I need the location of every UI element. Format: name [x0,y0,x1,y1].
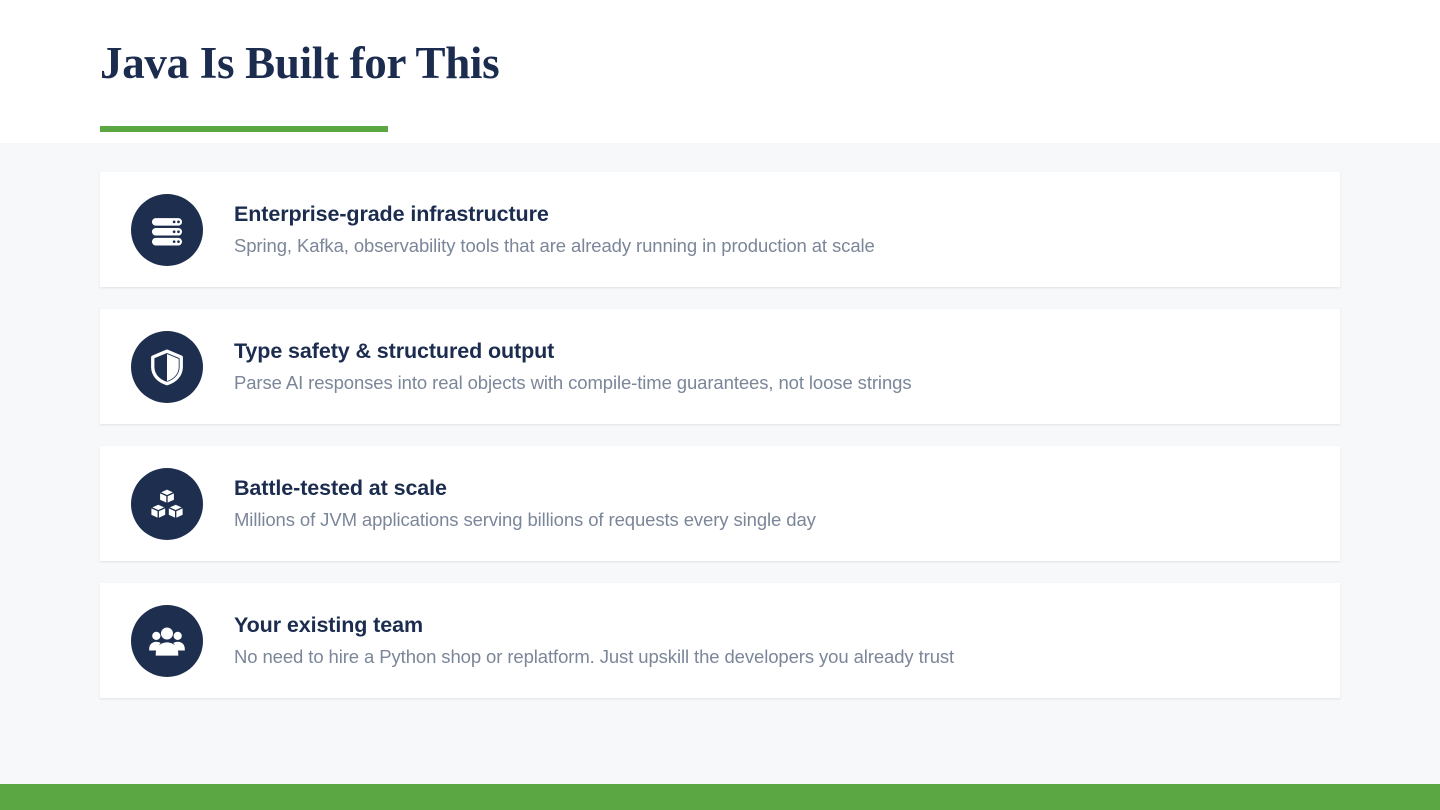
card-heading: Enterprise-grade infrastructure [234,202,1310,227]
card-description: Millions of JVM applications serving bil… [234,509,1310,531]
users-group-icon [131,605,203,677]
card-heading: Your existing team [234,613,1310,638]
card-text: Battle-tested at scale Millions of JVM a… [234,476,1340,532]
title-accent-rule [100,126,388,132]
feature-card[interactable]: Your existing team No need to hire a Pyt… [100,583,1340,698]
card-description: Parse AI responses into real objects wit… [234,372,1310,394]
slide-header: Java Is Built for This [0,0,1440,143]
card-description: Spring, Kafka, observability tools that … [234,235,1310,257]
card-heading: Battle-tested at scale [234,476,1310,501]
boxes-icon [131,468,203,540]
feature-card-list: Enterprise-grade infrastructure Spring, … [100,172,1340,720]
card-heading: Type safety & structured output [234,339,1310,364]
footer-accent-bar [0,784,1440,810]
card-description: No need to hire a Python shop or replatf… [234,646,1310,668]
card-text: Enterprise-grade infrastructure Spring, … [234,202,1340,258]
feature-card[interactable]: Battle-tested at scale Millions of JVM a… [100,446,1340,561]
feature-card[interactable]: Enterprise-grade infrastructure Spring, … [100,172,1340,287]
server-rack-icon [131,194,203,266]
feature-card[interactable]: Type safety & structured output Parse AI… [100,309,1340,424]
page-title: Java Is Built for This [100,41,499,86]
shield-icon [131,331,203,403]
card-text: Type safety & structured output Parse AI… [234,339,1340,395]
card-text: Your existing team No need to hire a Pyt… [234,613,1340,669]
